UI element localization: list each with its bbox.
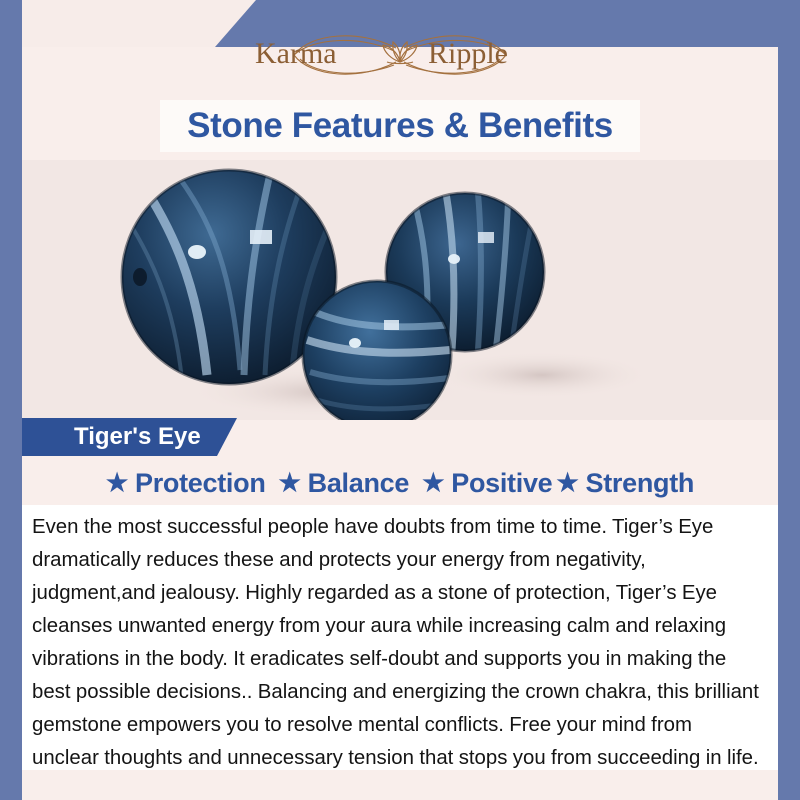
feature-label: Strength: [586, 468, 695, 499]
star-icon: ★: [279, 471, 301, 496]
feature-item-strength: ★ Strength: [556, 468, 694, 499]
feature-label: Positive: [451, 468, 552, 499]
feature-list: ★ Protection ★ Balance ★ Positive ★ Stre…: [22, 463, 778, 503]
frame-right-bar: [778, 0, 800, 800]
brand-name-right: Ripple: [428, 37, 508, 70]
stone-photo-svg: [22, 160, 778, 420]
page-title: Stone Features & Benefits: [187, 106, 613, 146]
brand-name-left: Karma: [255, 37, 337, 70]
stone-photo: [22, 160, 778, 420]
infographic-canvas: Karma Ripple Stone Features & Benefits: [0, 0, 800, 800]
star-icon: ★: [556, 471, 578, 496]
description-card: Even the most successful people have dou…: [22, 505, 778, 770]
page-title-band: Stone Features & Benefits: [160, 100, 640, 152]
feature-item-positive: ★ Positive: [422, 468, 552, 499]
feature-item-protection: ★ Protection: [106, 468, 266, 499]
brand-logo: Karma Ripple: [0, 20, 800, 92]
feature-label: Protection: [135, 468, 266, 499]
star-icon: ★: [422, 471, 444, 496]
feature-label: Balance: [308, 468, 409, 499]
stone-name-banner: Tiger's Eye: [22, 418, 237, 456]
logo-svg: Karma Ripple: [250, 21, 550, 91]
description-text: Even the most successful people have dou…: [22, 511, 778, 775]
feature-item-balance: ★ Balance: [279, 468, 410, 499]
star-icon: ★: [106, 471, 128, 496]
stone-name: Tiger's Eye: [74, 423, 201, 451]
frame-left-bar: [0, 0, 22, 800]
